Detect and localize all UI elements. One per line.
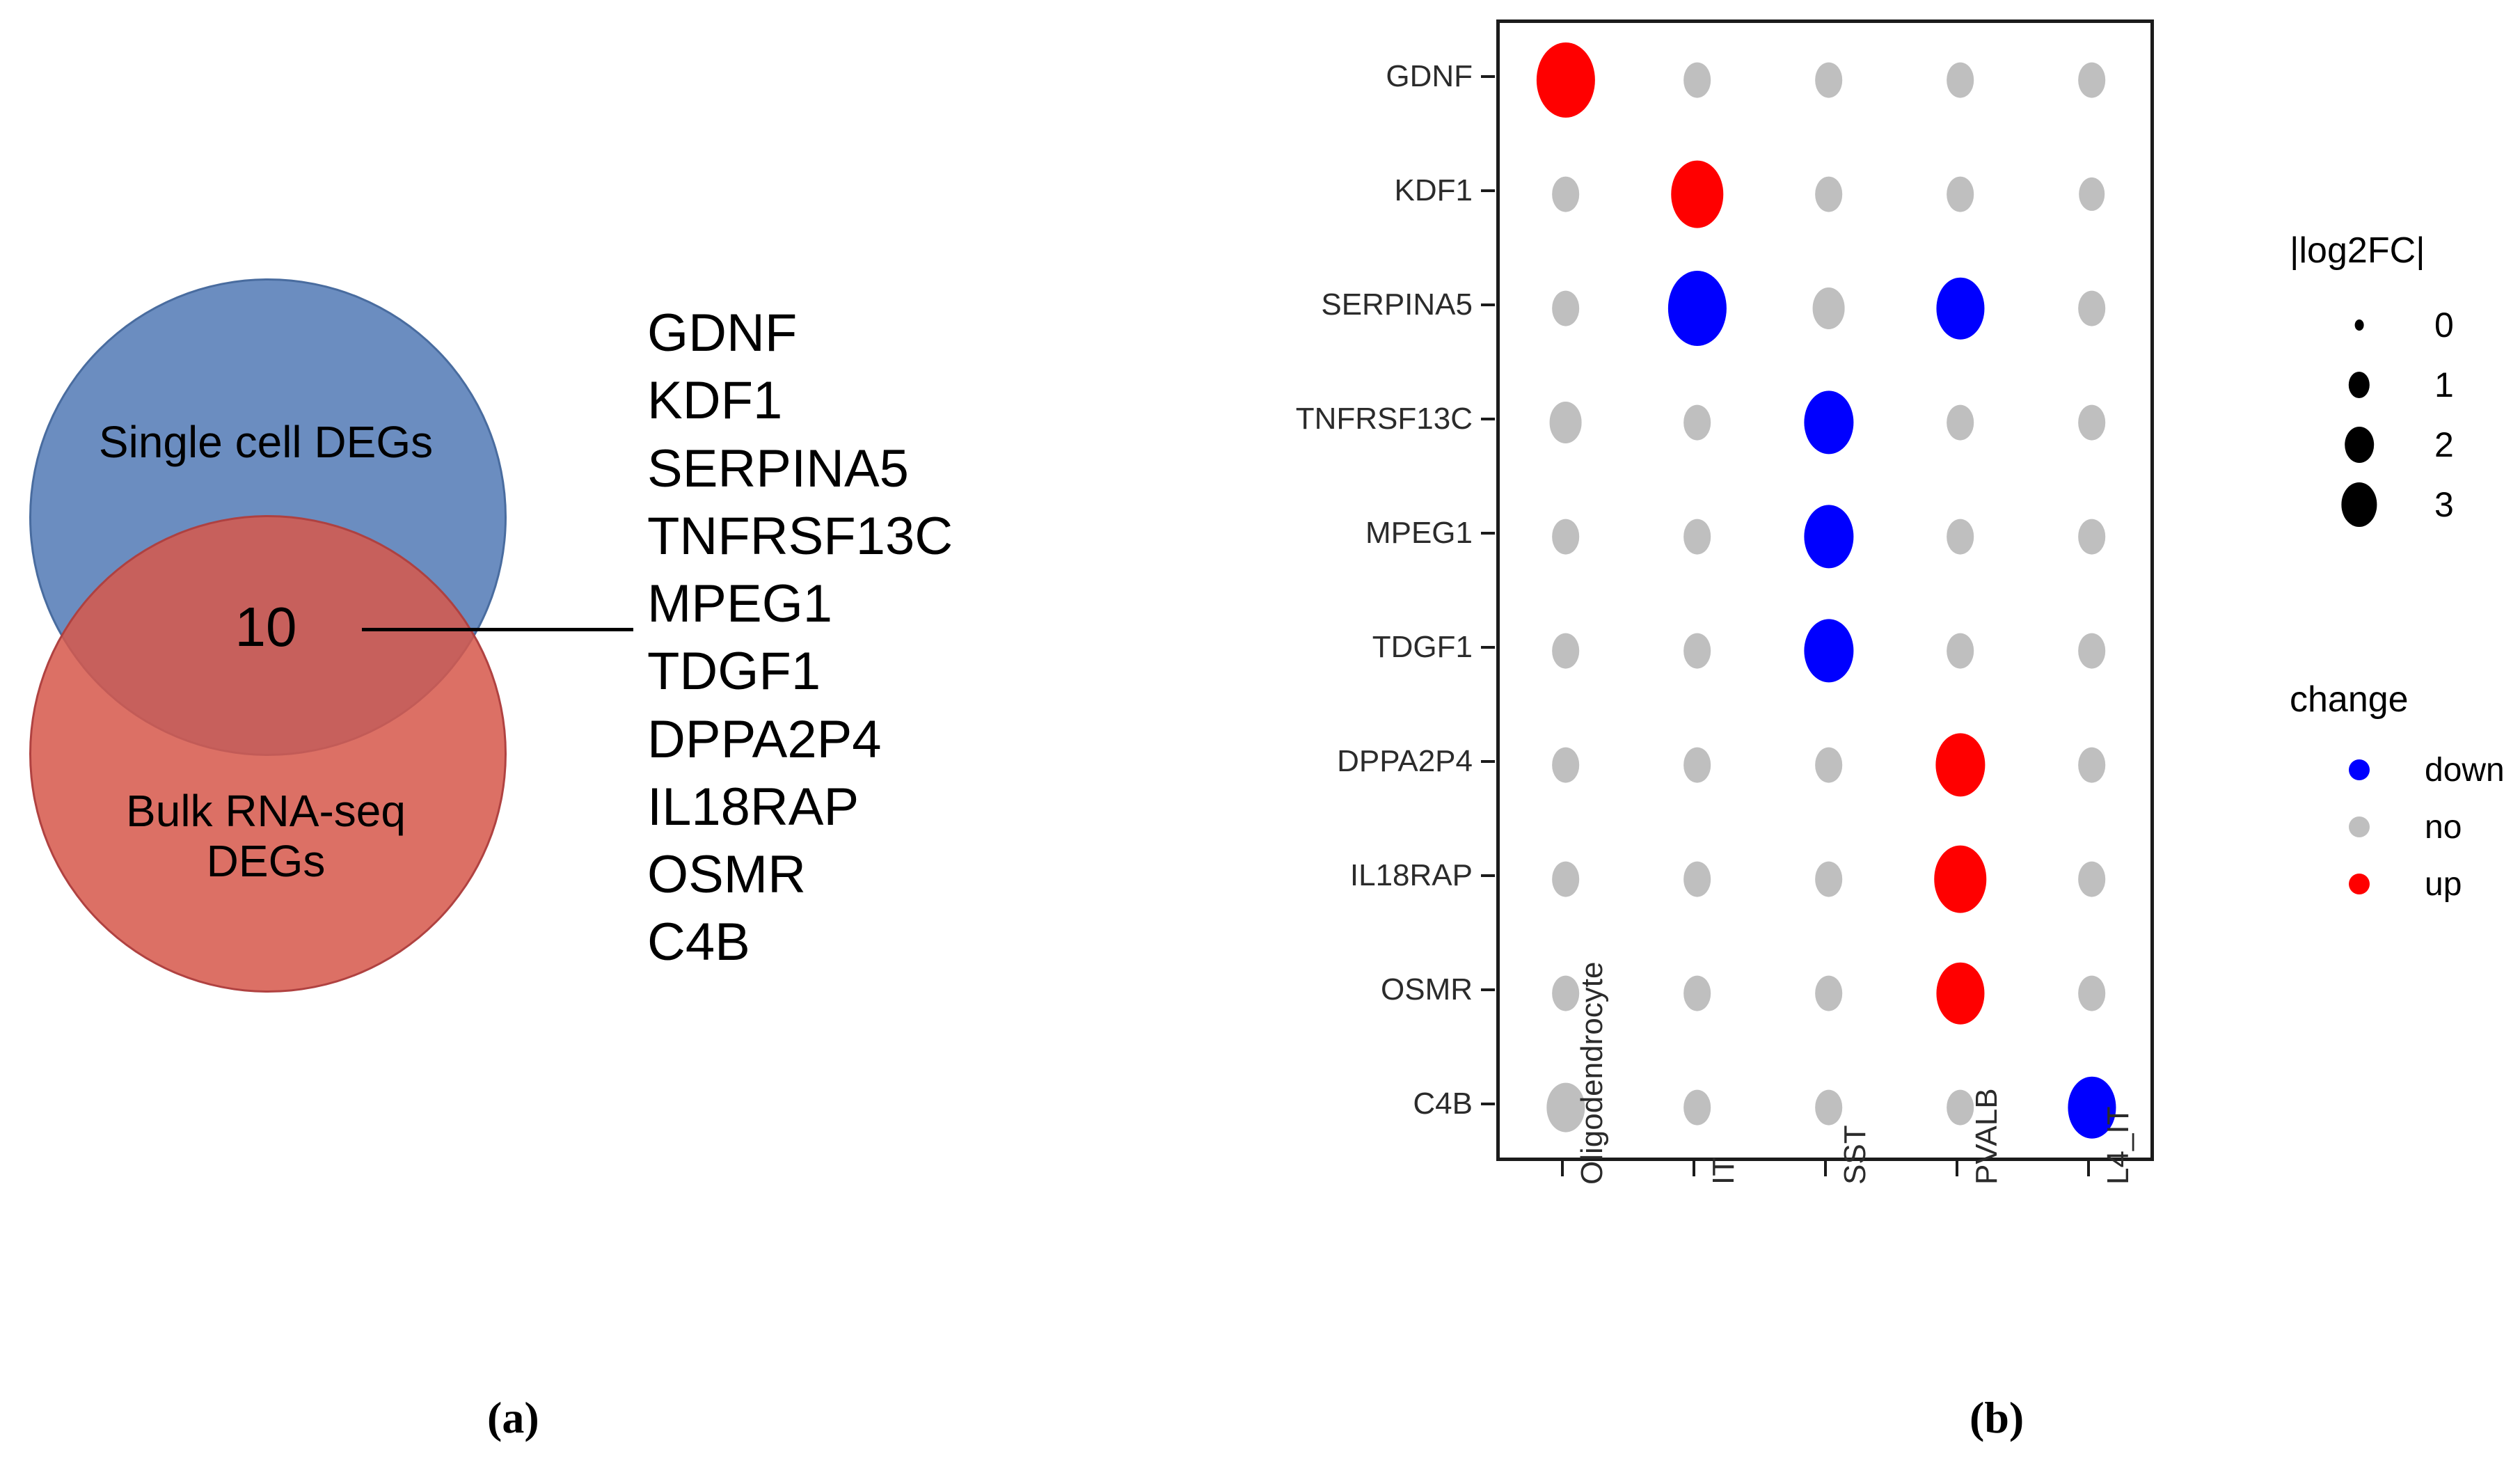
legend-change-row: down [2290, 741, 2519, 798]
x-axis-label: SST [1838, 1125, 1873, 1185]
dotplot-point [1683, 63, 1711, 98]
legend-log2fc-dot [2355, 319, 2364, 331]
y-axis-tick [1481, 532, 1495, 535]
dotplot-point [1671, 161, 1723, 228]
legend-log2fc-title: |log2FC| [2290, 230, 2519, 271]
legend-change-rows: downnoup [2290, 741, 2519, 913]
dotplot-point [1934, 846, 1986, 913]
dotplot-point [1815, 63, 1843, 98]
legend-log2fc: |log2FC| 0123 [2290, 230, 2519, 535]
legend-change-label: no [2425, 808, 2462, 846]
dotplot-point [1683, 1090, 1711, 1126]
legend-log2fc-value: 1 [2434, 365, 2454, 405]
dotplot-point [1815, 748, 1843, 783]
x-axis-tick [1693, 1161, 1695, 1176]
dotplot-point [1536, 42, 1594, 118]
legend-change-title: change [2290, 679, 2519, 720]
y-axis-label: DPPA2P4 [1337, 744, 1473, 779]
legend-change-row: no [2290, 798, 2519, 855]
y-axis-label: SERPINA5 [1321, 287, 1473, 322]
y-axis-tick [1481, 988, 1495, 991]
x-axis-label: Oligodendrocyte [1575, 962, 1610, 1185]
y-axis-label: C4B [1413, 1087, 1473, 1121]
legend-log2fc-value: 3 [2434, 484, 2454, 525]
legend-change-label: down [2425, 751, 2505, 789]
panel-b-dotplot: GDNFKDF1SERPINA5TNFRSF13CMPEG1TDGF1DPPA2… [0, 0, 2520, 1484]
dotplot-point [1683, 976, 1711, 1011]
figure-root: Single cell DEGs Bulk RNA-seq DEGs 10 GD… [0, 0, 2520, 1484]
legend-change-swatch-cell [2290, 741, 2408, 798]
y-axis-label: TNFRSF13C [1296, 402, 1473, 436]
x-axis-tick [1956, 1161, 1958, 1176]
legend-log2fc-dot [2341, 482, 2377, 527]
y-axis-tick [1481, 75, 1495, 78]
x-axis-label: IT [1706, 1158, 1741, 1185]
legend-change-label: up [2425, 865, 2462, 903]
dotplot-point [2078, 748, 2106, 783]
legend-log2fc-dot [2345, 427, 2374, 463]
dotplot-point [1935, 733, 1985, 796]
dotplot-point [1936, 278, 1984, 340]
y-axis-tick [1481, 418, 1495, 420]
x-axis-tick [1824, 1161, 1827, 1176]
y-axis-label: GDNF [1386, 59, 1473, 94]
x-axis-tick [1561, 1161, 1564, 1176]
dotplot-point [1947, 177, 1974, 212]
legend-log2fc-value: 2 [2434, 425, 2454, 465]
y-axis-label: IL18RAP [1350, 858, 1473, 893]
y-axis-label: OSMR [1381, 972, 1473, 1007]
legend-change: change downnoup [2290, 679, 2519, 913]
dotplot-point [2078, 862, 2106, 897]
dotplot-point [1552, 748, 1580, 783]
dotplot-point [1552, 862, 1580, 897]
y-axis-tick [1481, 760, 1495, 763]
legend-log2fc-row: 0 [2290, 295, 2519, 355]
dotplot-point [1947, 405, 1974, 441]
legend-log2fc-row: 1 [2290, 355, 2519, 415]
dotplot-point [2078, 519, 2106, 555]
y-axis-label: MPEG1 [1365, 516, 1473, 551]
y-axis-tick [1481, 874, 1495, 877]
dotplot-point [2078, 405, 2106, 441]
y-axis-tick [1481, 189, 1495, 192]
dotplot-point [2079, 177, 2105, 211]
legend-log2fc-dot [2349, 372, 2370, 398]
y-axis-tick [1481, 646, 1495, 649]
dotplot-point [1683, 862, 1711, 897]
legend-log2fc-swatch-cell [2290, 295, 2408, 355]
dotplot-point [1947, 519, 1974, 555]
dotplot-point [1804, 505, 1853, 568]
dotplot-point [1947, 63, 1974, 98]
dotplot-point [1815, 177, 1843, 212]
dotplot-point [1936, 963, 1984, 1025]
legend-change-dot [2349, 874, 2370, 894]
x-axis-label: L4_IT [2101, 1106, 2136, 1185]
dotplot-point [1683, 519, 1711, 555]
dotplot-point [1804, 619, 1853, 682]
dotplot-point [1815, 862, 1843, 897]
legend-change-dot [2349, 759, 2370, 780]
legend-log2fc-swatch-cell [2290, 355, 2408, 415]
y-axis-label: TDGF1 [1372, 630, 1473, 665]
legend-change-row: up [2290, 855, 2519, 913]
dotplot-point [2078, 633, 2106, 669]
dotplot-point [1552, 291, 1580, 326]
legend-log2fc-swatch-cell [2290, 475, 2408, 535]
panel-caption-b: (b) [1970, 1392, 2024, 1444]
dotplot-point [2078, 291, 2106, 326]
dotplot-point [1815, 976, 1843, 1011]
dotplot-point [2078, 976, 2106, 1011]
dotplot-point [1552, 177, 1580, 212]
legend-change-swatch-cell [2290, 855, 2408, 913]
dotplot-point [1667, 271, 1726, 346]
legend-change-swatch-cell [2290, 798, 2408, 855]
dotplot-point [1683, 633, 1711, 669]
legend-log2fc-value: 0 [2434, 305, 2454, 345]
legend-change-dot [2349, 816, 2370, 837]
y-axis-label: KDF1 [1395, 173, 1473, 208]
dotplot-point [1812, 287, 1845, 329]
dotplot-point [1947, 633, 1974, 669]
dotplot-point [1683, 405, 1711, 441]
dotplot-point [1804, 390, 1853, 454]
y-axis-tick [1481, 1103, 1495, 1105]
dotplot-point [1552, 633, 1580, 669]
y-axis-tick [1481, 303, 1495, 306]
dotplot-point [2078, 63, 2106, 98]
legend-log2fc-row: 3 [2290, 475, 2519, 535]
dotplot-point [1549, 402, 1582, 443]
x-axis-label: PVALB [1970, 1088, 2004, 1185]
dotplot-point [1683, 748, 1711, 783]
dotplot-point [1552, 519, 1580, 555]
legend-log2fc-row: 2 [2290, 415, 2519, 475]
x-axis-tick [2087, 1161, 2090, 1176]
legend-log2fc-rows: 0123 [2290, 295, 2519, 535]
dotplot-point [1815, 1090, 1843, 1126]
legend-log2fc-swatch-cell [2290, 415, 2408, 475]
